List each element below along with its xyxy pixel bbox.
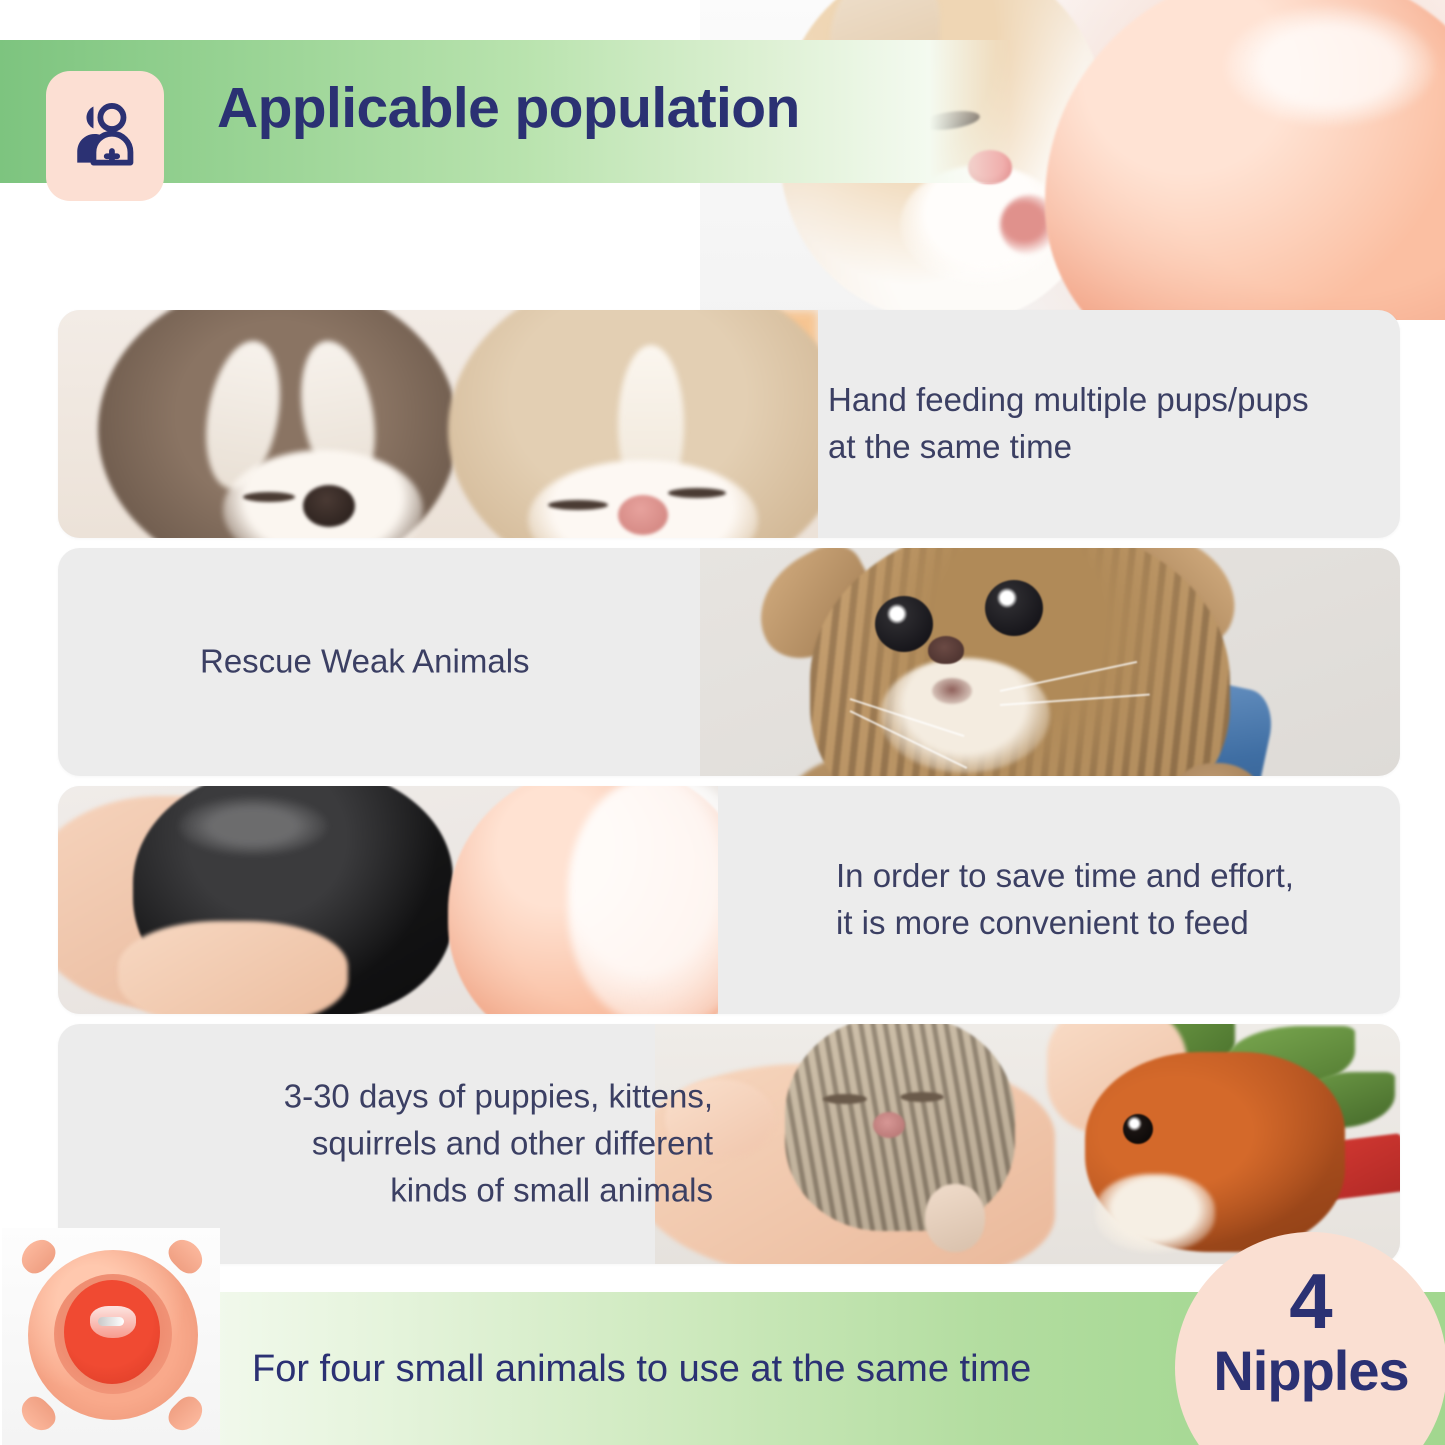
card-hand-feeding: Hand feeding multiple pups/pups at the s… (58, 310, 1400, 538)
nipple-count-label: Nipples (1213, 1342, 1408, 1401)
card-save-time-text: In order to save time and effort, it is … (836, 853, 1396, 947)
hero-bottle-highlight (1225, 6, 1435, 126)
card-rescue-text: Rescue Weak Animals (200, 639, 700, 686)
page-title: Applicable population (217, 75, 800, 141)
bottle-cap-valve (90, 1306, 136, 1338)
footer-caption: For four small animals to use at the sam… (252, 1348, 1031, 1391)
card-animal-types: 3-30 days of puppies, kittens, squirrels… (58, 1024, 1400, 1264)
four-nipple-bottle-cap-photo (2, 1228, 220, 1445)
users-add-icon (46, 71, 164, 201)
black-puppy-bottle-feeding-photo (58, 786, 718, 1014)
nipple-count-number: 4 (1289, 1264, 1332, 1338)
card-rescue: Rescue Weak Animals (58, 548, 1400, 776)
infographic-page: Applicable population Hand feeding multi… (0, 0, 1445, 1445)
newborn-kitten-and-squirrel-photo (655, 1024, 1400, 1264)
tabby-kitten-photo (700, 548, 1400, 776)
card-hand-feeding-text: Hand feeding multiple pups/pups at the s… (828, 377, 1388, 471)
two-sleeping-husky-puppies-photo (58, 310, 818, 538)
card-save-time: In order to save time and effort, it is … (58, 786, 1400, 1014)
card-animal-types-text: 3-30 days of puppies, kittens, squirrels… (213, 1074, 713, 1215)
